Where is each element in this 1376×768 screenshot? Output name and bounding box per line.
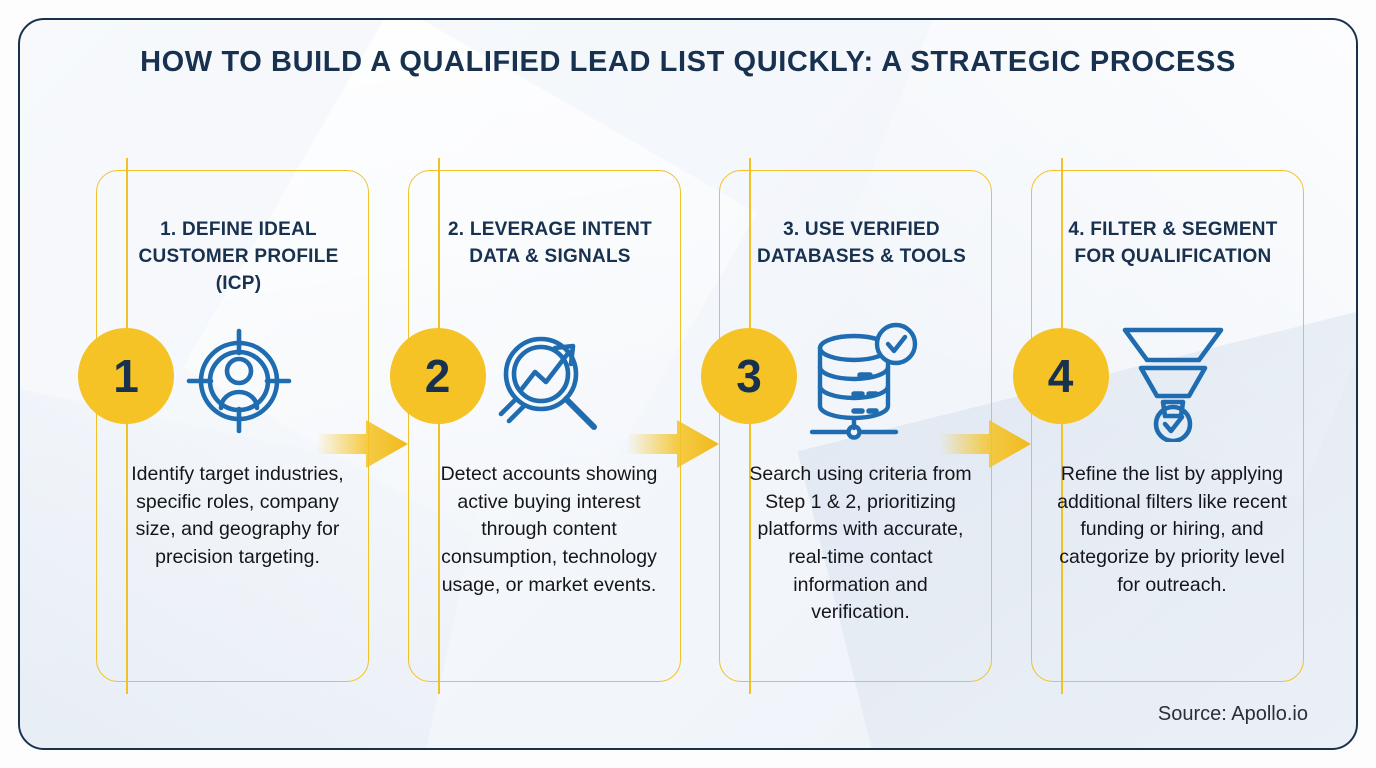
step-number-badge-1: 1 [78, 328, 174, 424]
source-attribution: Source: Apollo.io [1158, 703, 1308, 726]
step-number-badge-2: 2 [390, 328, 486, 424]
step-body-2: Detect accounts showing active buying in… [431, 461, 668, 599]
step-card-3: 3. USE VERIFIED DATABASES & TOOLS [701, 170, 987, 682]
step-body-1: Identify target industries, specific rol… [119, 461, 356, 572]
flow-arrow-1 [314, 418, 410, 470]
step-card-1: 1. DEFINE IDEAL CUSTOMER PROFILE (ICP) [78, 170, 364, 682]
step-heading-3: 3. USE VERIFIED DATABASES & TOOLS [746, 217, 977, 271]
step-card-2: 2. LEVERAGE INTENT DATA & SIGNALS Det [390, 170, 676, 682]
step-card-4: 4. FILTER & SEGMENT FOR QUALIFICATION Re… [1013, 170, 1299, 682]
step-heading-2: 2. LEVERAGE INTENT DATA & SIGNALS [435, 217, 666, 271]
flow-arrow-3 [937, 418, 1033, 470]
infographic-frame: HOW TO BUILD A QUALIFIED LEAD LIST QUICK… [18, 18, 1358, 750]
step-heading-4: 4. FILTER & SEGMENT FOR QUALIFICATION [1058, 217, 1289, 271]
step-card-box-4: 4. FILTER & SEGMENT FOR QUALIFICATION Re… [1031, 170, 1304, 682]
infographic-canvas: HOW TO BUILD A QUALIFIED LEAD LIST QUICK… [0, 0, 1376, 768]
page-title: HOW TO BUILD A QUALIFIED LEAD LIST QUICK… [20, 46, 1356, 79]
step-number-badge-4: 4 [1013, 328, 1109, 424]
step-heading-1: 1. DEFINE IDEAL CUSTOMER PROFILE (ICP) [123, 217, 354, 298]
step-number-badge-3: 3 [701, 328, 797, 424]
step-body-4: Refine the list by applying additional f… [1054, 461, 1291, 599]
flow-arrow-2 [625, 418, 721, 470]
step-body-3: Search using criteria from Step 1 & 2, p… [742, 461, 979, 627]
steps-row: 1. DEFINE IDEAL CUSTOMER PROFILE (ICP) [20, 170, 1356, 690]
